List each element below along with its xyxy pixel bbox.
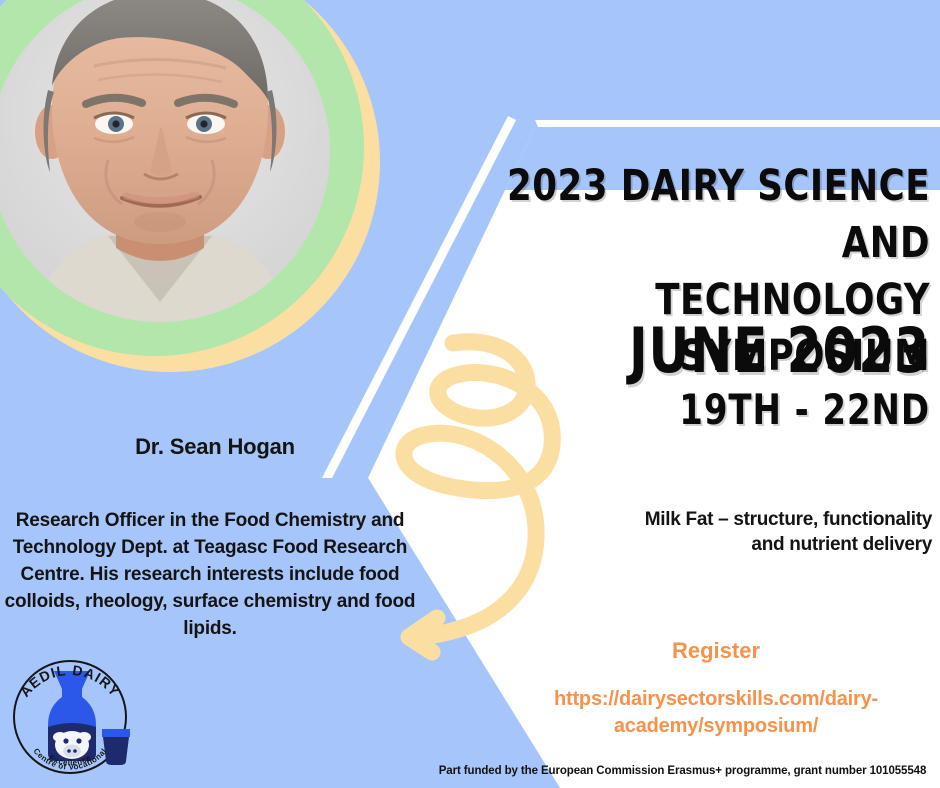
date-month-year: JUNE 2023 <box>480 320 930 382</box>
register-label: Register <box>500 638 932 664</box>
title-line-1: 2023 DAIRY SCIENCE AND <box>424 158 930 272</box>
funding-footer: Part funded by the European Commission E… <box>430 765 935 777</box>
register-section: Register https://dairysectorskills.com/d… <box>500 638 932 740</box>
aedil-dairy-logo: AEDIL DAIRY Centre of Vocational Excelle… <box>4 645 136 781</box>
talk-topic: Milk Fat – structure, functionality and … <box>500 508 932 557</box>
poster-canvas: 2023 DAIRY SCIENCE AND TECHNOLOGY SYMPOS… <box>0 0 940 788</box>
event-date: JUNE 2023 19TH - 22ND <box>430 320 930 439</box>
topic-line-1: Milk Fat – structure, functionality <box>500 508 932 533</box>
speaker-bio: Research Officer in the Food Chemistry a… <box>0 508 420 643</box>
topic-line-2: and nutrient delivery <box>500 533 932 558</box>
logo-graphic: AEDIL DAIRY Centre of Vocational Excelle… <box>4 645 136 781</box>
speaker-name: Dr. Sean Hogan <box>0 434 430 460</box>
date-days: 19TH - 22ND <box>480 382 930 439</box>
register-url-link[interactable]: https://dairysectorskills.com/dairy-acad… <box>500 686 932 740</box>
